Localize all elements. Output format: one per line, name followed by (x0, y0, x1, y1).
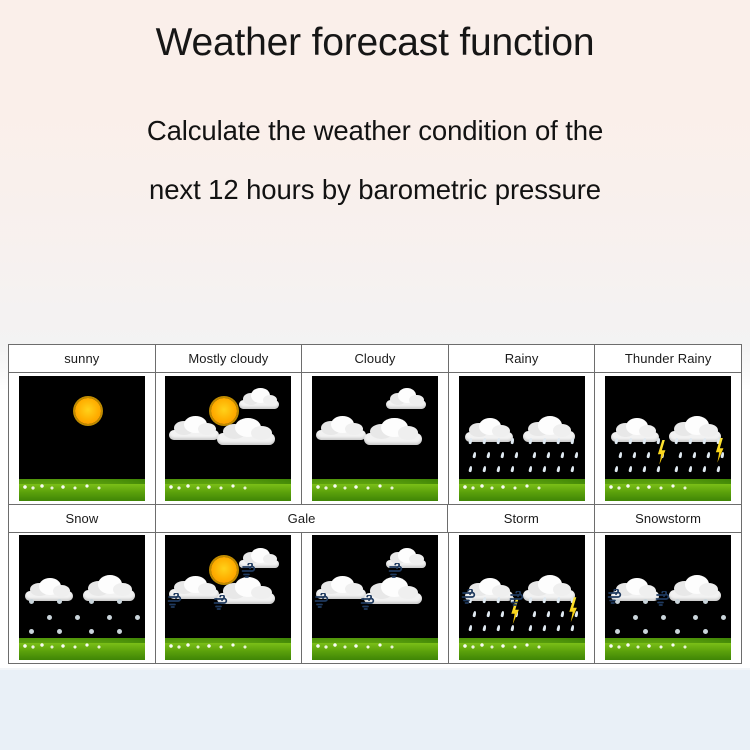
cloud-icon (386, 390, 426, 409)
rain-drop-icon (560, 452, 564, 458)
wind-swirl-icon (607, 589, 623, 605)
snowflake-icon (89, 629, 94, 634)
sun-icon (75, 398, 101, 424)
snowflake-icon (703, 629, 708, 634)
rainfall (605, 436, 731, 484)
rain-drop-icon (556, 625, 560, 631)
weather-scene-thunder-rainy (605, 376, 731, 501)
rain-drop-icon (570, 466, 574, 472)
rain-drop-icon (500, 611, 504, 617)
rain-drop-icon (560, 611, 564, 617)
snowflake-icon (57, 599, 62, 604)
rain-drop-icon (542, 438, 546, 444)
rain-drop-icon (468, 625, 472, 631)
rain-drop-icon (689, 466, 693, 472)
rain-drop-icon (570, 625, 574, 631)
rain-drop-icon (486, 611, 490, 617)
wind-swirl-icon (241, 563, 257, 579)
heading-block: Weather forecast function Calculate the … (0, 0, 750, 204)
scene-cell-rainy (449, 373, 596, 505)
rain-drop-icon (468, 438, 472, 444)
snowflake-icon (117, 629, 122, 634)
weather-scene-storm (459, 535, 585, 660)
scene-cell-gale-cloudy (302, 533, 449, 664)
rain-drop-icon (486, 452, 490, 458)
rain-drop-icon (496, 466, 500, 472)
rain-drop-icon (510, 438, 514, 444)
column-header-gale: Gale (156, 505, 449, 533)
weather-scene-mostly-cloudy (165, 376, 291, 501)
weather-condition-table: sunnyMostly cloudyCloudyRainyThunder Rai… (8, 344, 742, 664)
column-header-snow: Snow (9, 505, 156, 533)
snowflake-icon (721, 615, 726, 620)
snowflake-icon (47, 615, 52, 620)
rain-drop-icon (675, 438, 679, 444)
snowflake-icon (633, 615, 638, 620)
snowfall (19, 595, 145, 643)
column-header-sunny: sunny (9, 345, 156, 373)
rain-drop-icon (468, 466, 472, 472)
page-title: Weather forecast function (0, 22, 750, 65)
rain-drop-icon (500, 452, 504, 458)
rain-drop-icon (472, 611, 476, 617)
snowflake-icon (57, 629, 62, 634)
rain-drop-icon (510, 466, 514, 472)
wind-swirl-icon (461, 589, 477, 605)
snowflake-icon (29, 599, 34, 604)
snowflake-icon (643, 629, 648, 634)
snowflake-icon (703, 599, 708, 604)
rain-drop-icon (528, 466, 532, 472)
grass-ground (165, 643, 291, 660)
snowflake-icon (135, 615, 140, 620)
rain-drop-icon (556, 438, 560, 444)
rain-drop-icon (496, 625, 500, 631)
table-image-row (9, 533, 741, 664)
grass-ground (312, 484, 438, 501)
scene-cell-snowstorm (595, 533, 741, 664)
snowflake-icon (107, 615, 112, 620)
rain-drop-icon (619, 452, 623, 458)
snowflake-icon (693, 615, 698, 620)
rain-drop-icon (693, 452, 697, 458)
rain-drop-icon (482, 466, 486, 472)
snowflake-icon (675, 629, 680, 634)
scene-cell-snow (9, 533, 156, 664)
rain-drop-icon (675, 466, 679, 472)
rain-drop-icon (647, 452, 651, 458)
rain-drop-icon (496, 597, 500, 603)
grass-ground (605, 484, 731, 501)
panel-divider (0, 668, 750, 670)
rain-drop-icon (532, 452, 536, 458)
column-header-mostly-cloudy: Mostly cloudy (156, 345, 303, 373)
grass-ground (459, 643, 585, 660)
rain-drop-icon (657, 438, 661, 444)
table-header-row: sunnyMostly cloudyCloudyRainyThunder Rai… (9, 345, 741, 373)
weather-scene-snowstorm (605, 535, 731, 660)
rain-drop-icon (496, 438, 500, 444)
snowflake-icon (615, 629, 620, 634)
grass-ground (605, 643, 731, 660)
rain-drop-icon (615, 438, 619, 444)
wind-swirl-icon (167, 593, 183, 609)
rain-drop-icon (707, 452, 711, 458)
rain-drop-icon (482, 597, 486, 603)
scene-cell-storm (449, 533, 596, 664)
grass-ground (165, 484, 291, 501)
cloud-icon (217, 420, 275, 445)
rain-drop-icon (532, 611, 536, 617)
lower-blue-panel (0, 668, 750, 750)
subtitle-line-1: Calculate the weather condition of the (0, 117, 750, 145)
cloud-icon (364, 420, 422, 445)
rain-drop-icon (629, 466, 633, 472)
rain-drop-icon (546, 611, 550, 617)
wind-swirl-icon (388, 563, 404, 579)
cloud-icon (239, 390, 279, 409)
rain-drop-icon (510, 625, 514, 631)
column-header-thunder-rainy: Thunder Rainy (595, 345, 741, 373)
snowflake-icon (89, 599, 94, 604)
rain-drop-icon (556, 466, 560, 472)
rain-drop-icon (657, 466, 661, 472)
rain-drop-icon (514, 452, 518, 458)
grass-ground (312, 643, 438, 660)
rainfall (459, 436, 585, 484)
weather-scene-gale-cloudy (312, 535, 438, 660)
scene-cell-cloudy (302, 373, 449, 505)
rain-drop-icon (542, 597, 546, 603)
rain-drop-icon (482, 438, 486, 444)
snowflake-icon (643, 599, 648, 604)
cloud-icon (169, 418, 219, 440)
snowflake-icon (29, 629, 34, 634)
rain-drop-icon (570, 438, 574, 444)
cloud-icon (316, 418, 366, 440)
rain-drop-icon (542, 466, 546, 472)
table-header-row: SnowGaleStormSnowstorm (9, 505, 741, 533)
rain-drop-icon (633, 452, 637, 458)
rain-drop-icon (703, 466, 707, 472)
wind-swirl-icon (509, 591, 525, 607)
weather-scene-gale-sunny (165, 535, 291, 660)
rain-drop-icon (574, 452, 578, 458)
column-header-snowstorm: Snowstorm (595, 505, 741, 533)
weather-scene-sunny (19, 376, 145, 501)
wind-swirl-icon (314, 593, 330, 609)
weather-scene-rainy (459, 376, 585, 501)
grass-ground (459, 484, 585, 501)
snowflake-icon (117, 599, 122, 604)
table-image-row (9, 373, 741, 505)
subtitle-line-2: next 12 hours by barometric pressure (0, 176, 750, 204)
rain-drop-icon (629, 438, 633, 444)
rain-drop-icon (679, 452, 683, 458)
wind-swirl-icon (360, 595, 376, 611)
column-header-cloudy: Cloudy (302, 345, 449, 373)
rain-drop-icon (643, 466, 647, 472)
column-header-rainy: Rainy (449, 345, 596, 373)
grass-ground (19, 643, 145, 660)
wind-swirl-icon (655, 591, 671, 607)
weather-scene-snow (19, 535, 145, 660)
scene-cell-thunder-rainy (595, 373, 741, 505)
rain-drop-icon (528, 625, 532, 631)
rain-drop-icon (542, 625, 546, 631)
rain-drop-icon (482, 625, 486, 631)
scene-cell-mostly-cloudy (156, 373, 303, 505)
rain-drop-icon (717, 466, 721, 472)
snowflake-icon (675, 599, 680, 604)
rain-drop-icon (689, 438, 693, 444)
rain-drop-icon (703, 438, 707, 444)
scene-cell-sunny (9, 373, 156, 505)
snowflake-icon (75, 615, 80, 620)
rain-drop-icon (643, 438, 647, 444)
rain-drop-icon (556, 597, 560, 603)
rain-drop-icon (615, 466, 619, 472)
grass-ground (19, 484, 145, 501)
wind-swirl-icon (213, 595, 229, 611)
weather-scene-cloudy (312, 376, 438, 501)
rain-drop-icon (528, 438, 532, 444)
column-header-storm: Storm (448, 505, 595, 533)
scene-cell-gale-sunny (156, 533, 303, 664)
rain-drop-icon (528, 597, 532, 603)
rain-drop-icon (472, 452, 476, 458)
snowflake-icon (661, 615, 666, 620)
rain-drop-icon (546, 452, 550, 458)
